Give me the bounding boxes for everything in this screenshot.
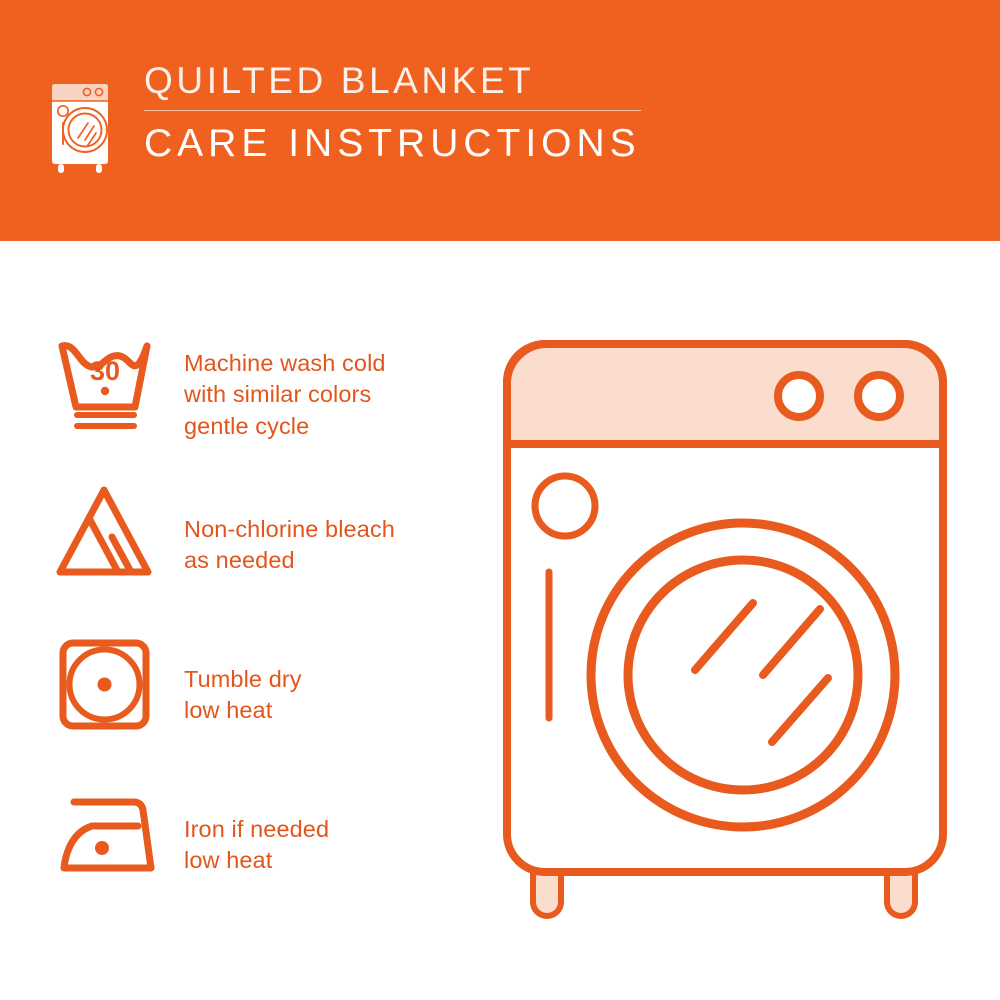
care-text-line: with similar colors: [184, 379, 386, 410]
care-instructions-page: QUILTED BLANKET CARE INSTRUCTIONS 30: [0, 0, 1000, 1000]
tumble-dry-icon: [52, 634, 162, 742]
care-item-machine-wash: 30 Machine wash cold with similar colors…: [52, 330, 482, 482]
page-title-primary: QUILTED BLANKET: [144, 62, 641, 110]
care-item-text: Machine wash cold with similar colors ge…: [184, 330, 386, 442]
care-item-iron: Iron if needed low heat: [52, 786, 482, 938]
care-text-line: Tumble dry: [184, 664, 302, 695]
care-text-line: gentle cycle: [184, 411, 386, 442]
care-text-line: low heat: [184, 695, 302, 726]
care-text-line: Non-chlorine bleach: [184, 514, 395, 545]
page-title-secondary: CARE INSTRUCTIONS: [144, 111, 641, 165]
title-block: QUILTED BLANKET CARE INSTRUCTIONS: [144, 62, 641, 165]
knob-left: [778, 375, 820, 417]
care-text-line: Machine wash cold: [184, 348, 386, 379]
bleach-triangle-icon: [52, 482, 162, 590]
washing-machine-illustration: [495, 330, 955, 940]
care-item-text: Non-chlorine bleach as needed: [184, 482, 395, 577]
care-text-line: as needed: [184, 545, 395, 576]
care-text-line: Iron if needed: [184, 814, 329, 845]
header-banner: QUILTED BLANKET CARE INSTRUCTIONS: [0, 0, 1000, 241]
washing-machine-icon: [44, 66, 116, 176]
svg-text:30: 30: [90, 356, 120, 386]
knob-right: [858, 375, 900, 417]
care-item-tumble-dry: Tumble dry low heat: [52, 634, 482, 786]
care-item-bleach: Non-chlorine bleach as needed: [52, 482, 482, 634]
care-item-text: Tumble dry low heat: [184, 634, 302, 727]
header-content: QUILTED BLANKET CARE INSTRUCTIONS: [44, 62, 641, 176]
iron-icon: [52, 786, 162, 894]
care-text-line: low heat: [184, 845, 329, 876]
care-item-text: Iron if needed low heat: [184, 786, 329, 877]
wash-tub-icon: 30: [52, 330, 162, 438]
care-instruction-list: 30 Machine wash cold with similar colors…: [52, 330, 482, 938]
